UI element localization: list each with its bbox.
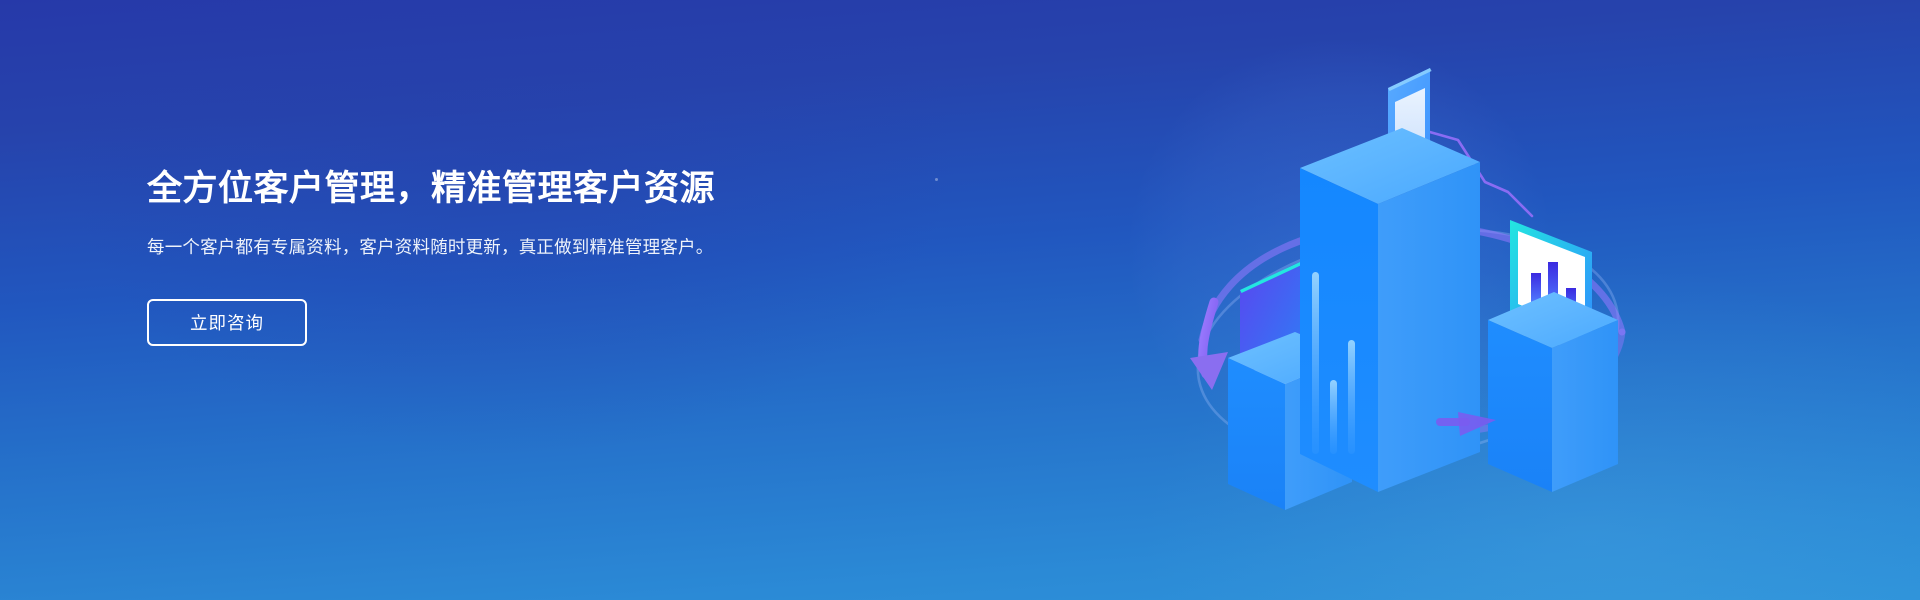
hero-banner: 全方位客户管理，精准管理客户资源 每一个客户都有专属资料，客户资料随时更新，真正… bbox=[0, 0, 1920, 600]
decorative-dot bbox=[935, 178, 938, 181]
right-pillar bbox=[1488, 220, 1618, 492]
consult-now-button[interactable]: 立即咨询 bbox=[147, 299, 307, 346]
page-title: 全方位客户管理，精准管理客户资源 bbox=[147, 168, 787, 210]
center-pillar bbox=[1300, 68, 1480, 492]
hero-subtitle: 每一个客户都有专属资料，客户资料随时更新，真正做到精准管理客户。 bbox=[147, 234, 732, 261]
hero-illustration bbox=[1140, 40, 1680, 580]
left-arrow-icon bbox=[1190, 302, 1228, 390]
hero-copy: 全方位客户管理，精准管理客户资源 每一个客户都有专属资料，客户资料随时更新，真正… bbox=[147, 168, 787, 346]
